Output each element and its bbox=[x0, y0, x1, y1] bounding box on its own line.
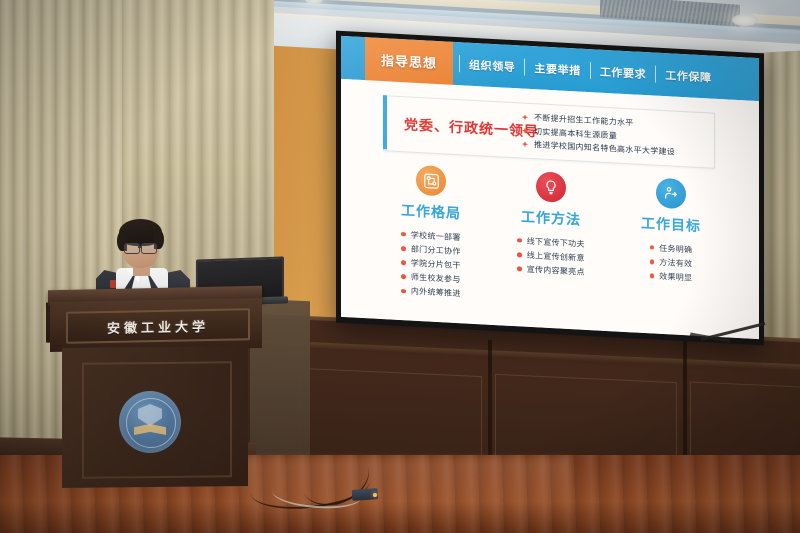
column-bullet-list: 线下宣传下功夫 线上宣传创新意 宣传内容聚亮点 bbox=[517, 233, 585, 279]
dot-bullet-icon bbox=[650, 245, 655, 250]
column-bullet-item: 学校统一部署 bbox=[401, 229, 460, 243]
lightbulb-icon bbox=[536, 171, 566, 203]
column-bullet-item: 线上宣传创新意 bbox=[517, 249, 585, 264]
column-bullet-item: 宣传内容聚亮点 bbox=[517, 263, 585, 278]
column-bullet-item: 师生校友参与 bbox=[401, 271, 460, 285]
column-title: 工作格局 bbox=[401, 200, 461, 223]
power-strip-led bbox=[373, 493, 377, 497]
slide-tab-requirements[interactable]: 工作要求 bbox=[591, 63, 655, 82]
dot-bullet-icon bbox=[401, 246, 406, 251]
column-title: 工作方法 bbox=[521, 206, 581, 229]
lead-bullet-text: 切实提高本科生源质量 bbox=[534, 126, 617, 141]
podium-name-plaque: 安徽工业大学 bbox=[66, 308, 250, 344]
column-bullet-text: 学校统一部署 bbox=[411, 229, 461, 243]
presentation-screen[interactable]: 指导思想 组织领导 主要举措 工作要求 工作保障 党委、行政统一领导 不断提升招… bbox=[341, 36, 759, 339]
column-bullet-text: 学院分片包干 bbox=[411, 258, 461, 272]
column-bullet-list: 学校统一部署 部门分工协作 学院分片包干 师生校友参与 内外统筹 bbox=[401, 227, 460, 301]
dot-bullet-icon bbox=[401, 289, 406, 294]
slide-content: 党委、行政统一领导 不断提升招生工作能力水平 切实提高本科生源质量 推进学校国内… bbox=[341, 79, 759, 339]
column-bullet-text: 任务明确 bbox=[659, 242, 692, 255]
slide-tab-measures[interactable]: 主要举措 bbox=[525, 59, 589, 78]
dot-bullet-icon bbox=[650, 259, 655, 264]
ceiling-downlight bbox=[732, 14, 758, 26]
slide-tab-active-label: 指导思想 bbox=[365, 49, 453, 73]
column-bullet-text: 线下宣传下功夫 bbox=[527, 235, 585, 249]
diamond-bullet-icon bbox=[522, 114, 528, 120]
column-bullet-item: 学院分片包干 bbox=[401, 257, 460, 271]
column-bullet-text: 线上宣传创新意 bbox=[527, 250, 585, 264]
dot-bullet-icon bbox=[517, 266, 522, 271]
slide-column-work-structure: 工作格局 学校统一部署 部门分工协作 学院分片包干 bbox=[371, 162, 491, 318]
column-bullet-item: 任务明确 bbox=[650, 242, 693, 255]
speaker-glasses-bridge bbox=[138, 246, 142, 248]
diamond-bullet-icon bbox=[522, 141, 528, 147]
column-bullet-text: 宣传内容聚亮点 bbox=[527, 264, 585, 278]
column-bullet-list: 任务明确 方法有效 效果明显 bbox=[650, 240, 693, 285]
dot-bullet-icon bbox=[401, 232, 406, 237]
dot-bullet-icon bbox=[650, 274, 655, 279]
dot-bullet-icon bbox=[401, 274, 406, 279]
panel-divider bbox=[683, 340, 687, 470]
column-bullet-item: 线下宣传下功夫 bbox=[517, 235, 585, 250]
column-bullet-text: 部门分工协作 bbox=[411, 243, 461, 257]
slide-column-work-goal: 工作目标 任务明确 方法有效 效果明显 bbox=[611, 175, 731, 331]
speaker-glasses-left bbox=[124, 243, 140, 254]
column-bullet-text: 内外统筹推进 bbox=[411, 286, 461, 300]
slide-column-work-method: 工作方法 线下宣传下功夫 线上宣传创新意 宣传内容聚亮点 bbox=[491, 169, 611, 325]
speaker-glasses-right bbox=[141, 243, 157, 254]
network-diagram-icon bbox=[416, 165, 446, 197]
slide-tab-guarantee[interactable]: 工作保障 bbox=[656, 66, 720, 85]
column-bullet-item: 部门分工协作 bbox=[401, 243, 460, 257]
wall-panel-moulding bbox=[300, 368, 482, 464]
column-title: 工作目标 bbox=[641, 213, 701, 236]
podium-plaque-text: 安徽工业大学 bbox=[107, 316, 209, 337]
lead-callout-title: 党委、行政统一领导 bbox=[404, 114, 516, 140]
column-bullet-item: 效果明显 bbox=[650, 270, 693, 283]
dot-bullet-icon bbox=[401, 260, 406, 265]
lecture-hall-photo: 指导思想 组织领导 主要举措 工作要求 工作保障 党委、行政统一领导 不断提升招… bbox=[0, 0, 800, 533]
column-bullet-text: 方法有效 bbox=[659, 257, 692, 270]
dot-bullet-icon bbox=[517, 238, 522, 243]
slide-columns: 工作格局 学校统一部署 部门分工协作 学院分片包干 bbox=[371, 162, 731, 331]
panel-divider bbox=[488, 340, 492, 470]
lead-accent-bar bbox=[383, 95, 387, 149]
column-bullet-text: 师生校友参与 bbox=[411, 272, 461, 286]
dot-bullet-icon bbox=[517, 252, 522, 257]
lead-bullet-list: 不断提升招生工作能力水平 切实提高本科生源质量 推进学校国内知名特色高水平大学建… bbox=[522, 109, 675, 160]
speaker-lapel-badge bbox=[110, 280, 116, 288]
column-bullet-item: 内外统筹推进 bbox=[401, 285, 460, 299]
column-bullet-text: 效果明显 bbox=[659, 271, 692, 284]
lead-callout-box: 党委、行政统一领导 不断提升招生工作能力水平 切实提高本科生源质量 推进学校国内… bbox=[383, 95, 715, 169]
slide-tab-organization[interactable]: 组织领导 bbox=[460, 56, 524, 75]
column-bullet-item: 方法有效 bbox=[650, 256, 693, 269]
diamond-bullet-icon bbox=[522, 128, 528, 134]
target-person-icon bbox=[656, 178, 686, 210]
